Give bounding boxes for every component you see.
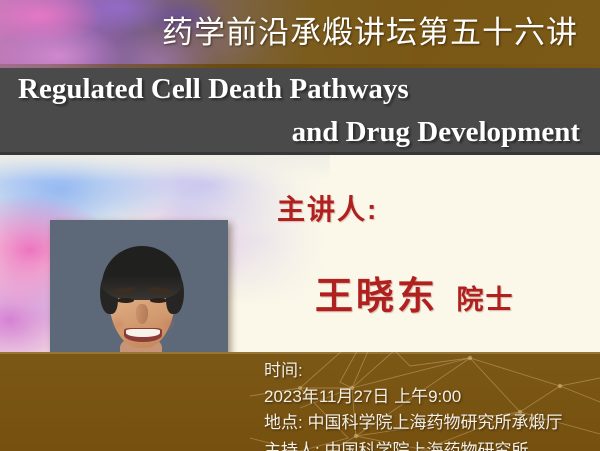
lecture-title: Regulated Cell Death Pathways and Drug D…	[0, 68, 600, 155]
series-title: 药学前沿承煅讲坛第五十六讲	[162, 4, 578, 62]
event-info-cut-row: 主持人: 中国科学院上海药物研究所	[264, 436, 528, 451]
speaker-label: 主讲人:	[277, 188, 378, 228]
speaker-honorific: 院士	[456, 285, 514, 315]
portrait-left-eye	[117, 298, 134, 303]
time-value: 2023年11月27日 上午9:00	[264, 384, 562, 410]
venue: 地点: 中国科学院上海药物研究所承煅厅	[264, 410, 562, 436]
lecture-title-line-1: Regulated Cell Death Pathways	[14, 68, 586, 111]
portrait-right-cheek	[160, 316, 176, 332]
time-label: 时间:	[264, 358, 562, 384]
event-info: 时间: 2023年11月27日 上午9:00 地点: 中国科学院上海药物研究所承…	[264, 358, 562, 436]
lecture-poster: 药学前沿承煅讲坛第五十六讲 Regulated Cell Death Pathw…	[0, 0, 600, 451]
speaker-name-row: 王晓东 院士	[315, 265, 514, 320]
portrait-teeth	[126, 329, 160, 337]
portrait-nose	[136, 304, 148, 324]
title-band: Regulated Cell Death Pathways and Drug D…	[0, 68, 600, 155]
speaker-name: 王晓东	[315, 276, 438, 318]
portrait-right-eye	[150, 298, 167, 303]
top-banner: 药学前沿承煅讲坛第五十六讲	[0, 0, 600, 68]
lecture-title-line-2: and Drug Development	[14, 111, 586, 154]
portrait-mouth	[124, 328, 162, 342]
watercolor-top-fade	[0, 155, 330, 181]
